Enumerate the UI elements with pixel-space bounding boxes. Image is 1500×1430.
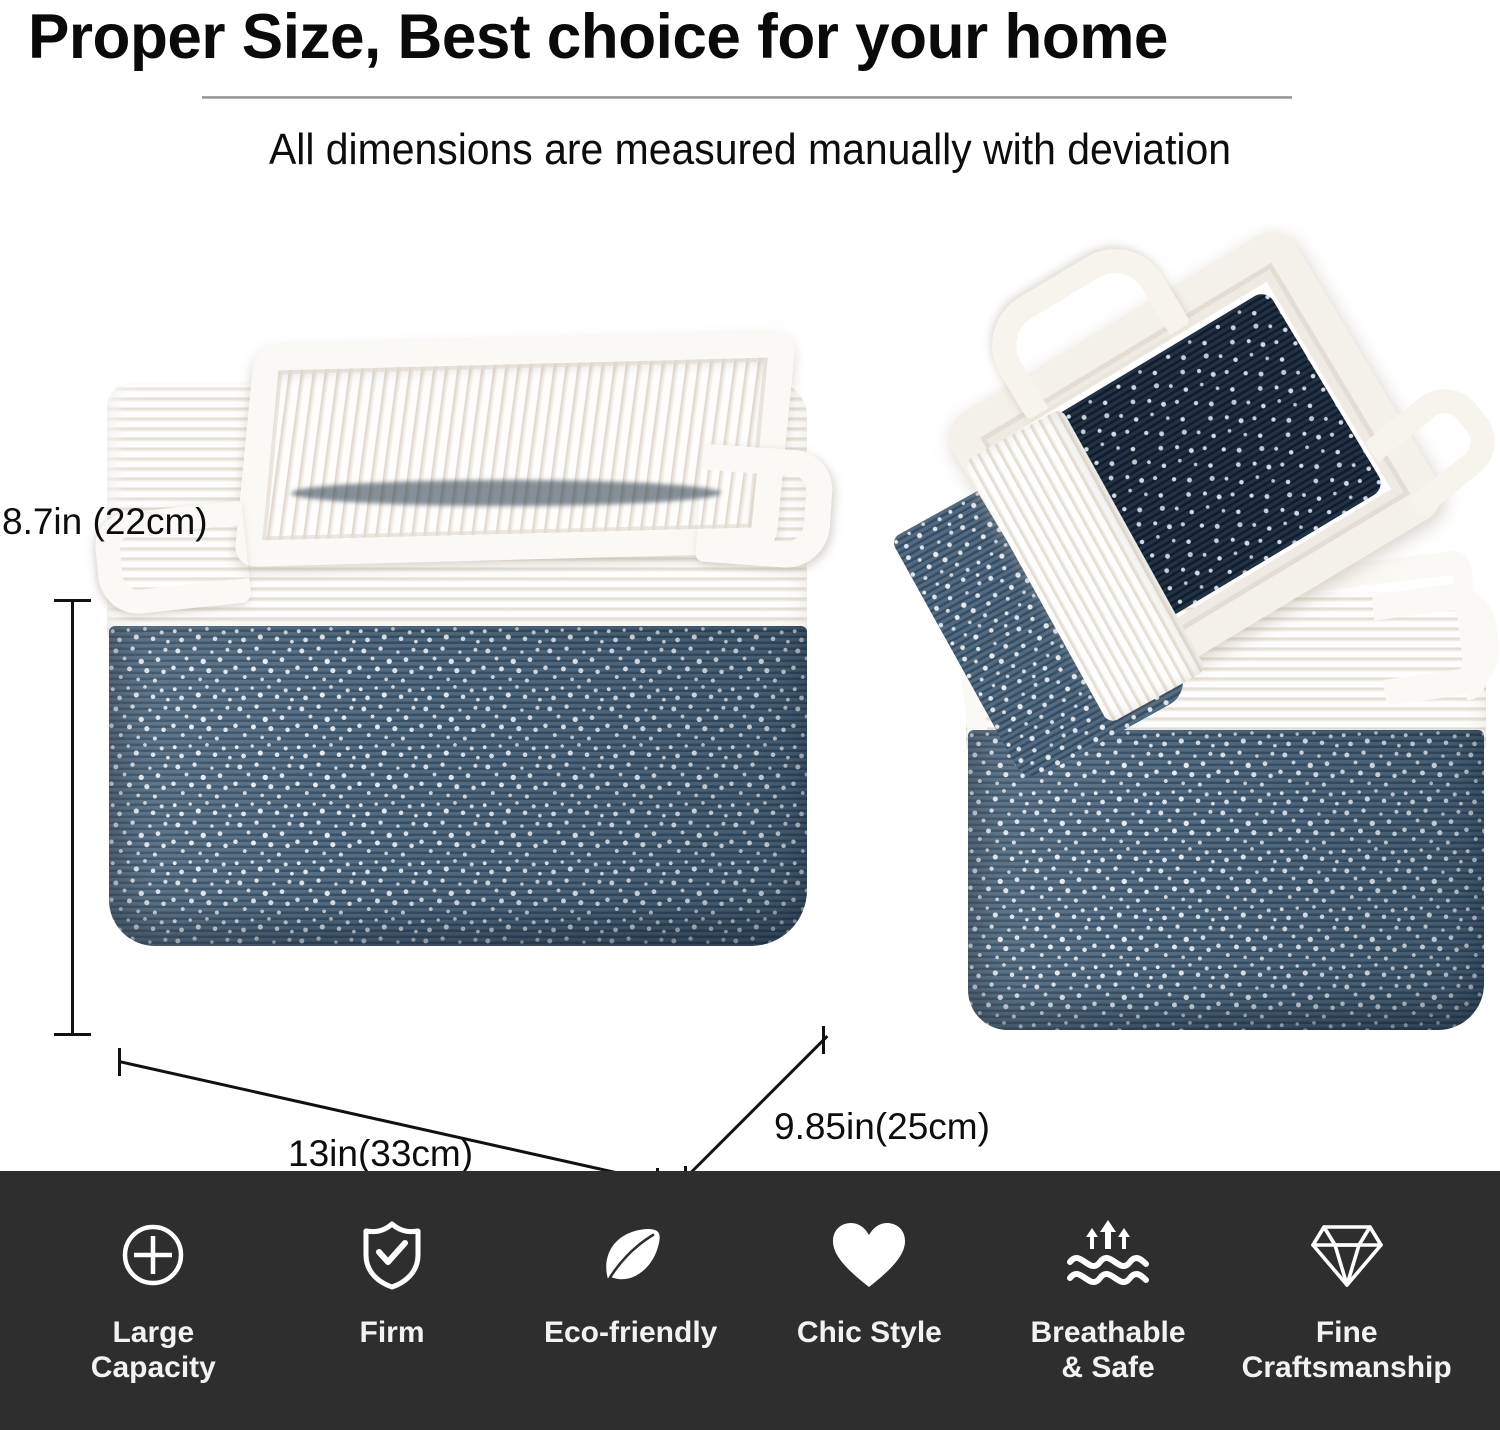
feature-item-breathable-safe: Breathable & Safe: [989, 1217, 1228, 1385]
feature-item-fine-craftsmanship: Fine Craftsmanship: [1227, 1217, 1466, 1385]
feature-item-chic-style: Chic Style: [750, 1217, 989, 1350]
feature-label: Breathable & Safe: [1030, 1315, 1185, 1385]
dimension-width-label: 13in(33cm): [288, 1132, 473, 1175]
shield-check-icon: [358, 1217, 426, 1293]
page-title: Proper Size, Best choice for your home: [28, 2, 1466, 72]
feature-item-firm: Firm: [273, 1217, 512, 1350]
diamond-icon: [1309, 1217, 1385, 1293]
dimension-height-cap-bottom: [54, 1033, 91, 1036]
basket-front: [95, 330, 835, 970]
feature-label: Large Capacity: [91, 1315, 216, 1385]
basket-front-handle-right: [695, 444, 835, 571]
basket-back-blue-body: [968, 730, 1484, 1030]
product-image-stage: 8.7in (22cm) 13in(33cm) 9.85in(25cm): [0, 180, 1500, 1171]
feature-label: Firm: [360, 1315, 425, 1350]
breathable-waves-icon: [1062, 1217, 1154, 1293]
header-divider: [202, 96, 1292, 99]
dimension-height-label: 8.7in (22cm): [2, 500, 208, 544]
circle-plus-icon: [119, 1217, 187, 1293]
feature-item-eco-friendly: Eco-friendly: [511, 1217, 750, 1350]
feature-label: Fine Craftsmanship: [1242, 1315, 1452, 1385]
feature-item-large-capacity: Large Capacity: [34, 1217, 273, 1385]
feature-bar: Large Capacity Firm Eco-friendly: [0, 1171, 1500, 1430]
product-infographic: Proper Size, Best choice for your home A…: [0, 0, 1500, 1430]
dimension-depth-label: 9.85in(25cm): [774, 1105, 990, 1148]
dimension-depth-cap-top: [822, 1026, 825, 1054]
feature-label: Eco-friendly: [544, 1315, 717, 1350]
heart-icon: [830, 1217, 908, 1293]
feature-label: Chic Style: [797, 1315, 942, 1350]
basket-front-blue-body: [109, 626, 807, 946]
dimension-height-line: [71, 600, 74, 1036]
leaf-icon: [595, 1217, 667, 1293]
